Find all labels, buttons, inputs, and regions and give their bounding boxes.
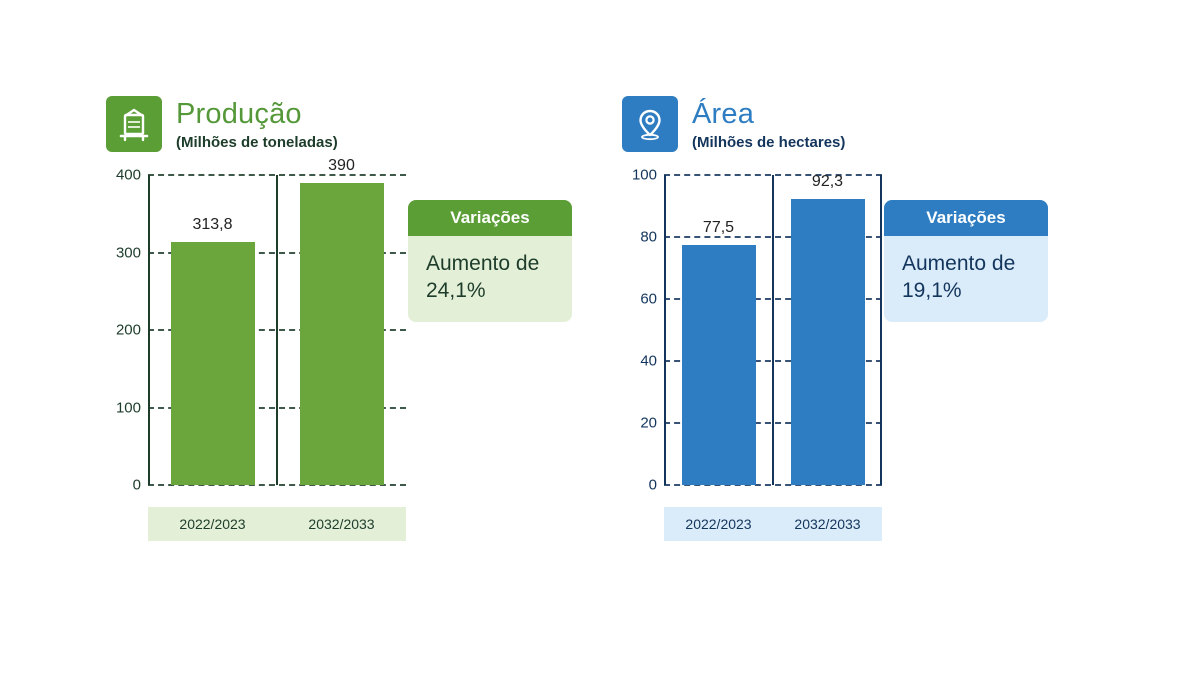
axis-right-line — [880, 175, 882, 485]
variation-card-text-producao: Aumento de 24,1% — [408, 236, 572, 322]
axis-divider-line — [276, 175, 278, 485]
variation-card-area: Variações Aumento de 19,1% — [884, 200, 1048, 322]
category-strip-area: 2022/20232032/2033 — [664, 507, 882, 541]
silo-icon — [106, 96, 162, 152]
category-label: 2032/2033 — [277, 516, 406, 532]
bar-2022-2023 — [171, 242, 255, 485]
axis-divider-line — [772, 175, 774, 485]
y-axis-tick-label: 200 — [116, 322, 141, 339]
chart-area-panel: 02040608010077,592,3 2022/20232032/2033 — [622, 175, 882, 485]
category-label: 2022/2023 — [148, 516, 277, 532]
bar-value-label: 92,3 — [812, 173, 843, 191]
panel-area: Área (Milhões de hectares) 0204060801007… — [622, 96, 882, 485]
chart-plot-area-area: 02040608010077,592,3 — [664, 175, 882, 485]
panel-producao: Produção (Milhões de toneladas) 01002003… — [106, 96, 406, 485]
y-axis-tick-label: 80 — [640, 229, 657, 246]
variation-card-header-area: Variações — [884, 200, 1048, 236]
panel-header-area: Área (Milhões de hectares) — [622, 96, 882, 153]
y-axis-tick-label: 100 — [116, 399, 141, 416]
y-axis-line — [148, 175, 150, 485]
bar-2032-2033 — [300, 183, 384, 485]
category-strip-producao: 2022/20232032/2033 — [148, 507, 406, 541]
variation-card-producao: Variações Aumento de 24,1% — [408, 200, 572, 322]
page-title-producao: Produção — [176, 98, 338, 130]
chart-plot-area-producao: 0100200300400313,8390 — [148, 175, 406, 485]
y-axis-line — [664, 175, 666, 485]
y-axis-tick-label: 20 — [640, 415, 657, 432]
location-pin-icon — [622, 96, 678, 152]
bar-2022-2023 — [682, 245, 756, 485]
y-axis-tick-label: 400 — [116, 167, 141, 184]
bar-2032-2033 — [791, 199, 865, 485]
bar-value-label: 77,5 — [703, 219, 734, 237]
y-axis-tick-label: 0 — [133, 477, 141, 494]
panel-title-wrap-area: Área (Milhões de hectares) — [692, 96, 845, 153]
panel-subtitle-area: (Milhões de hectares) — [692, 133, 845, 153]
category-label: 2032/2033 — [773, 516, 882, 532]
variation-card-header-producao: Variações — [408, 200, 572, 236]
y-axis-tick-label: 100 — [632, 167, 657, 184]
y-axis-tick-label: 300 — [116, 244, 141, 261]
variation-card-text-area: Aumento de 19,1% — [884, 236, 1048, 322]
bar-value-label: 390 — [328, 157, 355, 175]
page-title-area: Área — [692, 98, 845, 130]
panel-title-wrap-producao: Produção (Milhões de toneladas) — [176, 96, 338, 153]
bar-value-label: 313,8 — [192, 216, 232, 234]
y-axis-tick-label: 60 — [640, 291, 657, 308]
panel-subtitle-producao: (Milhões de toneladas) — [176, 133, 338, 153]
category-label: 2022/2023 — [664, 516, 773, 532]
y-axis-tick-label: 0 — [649, 477, 657, 494]
y-axis-tick-label: 40 — [640, 353, 657, 370]
chart-producao: 0100200300400313,8390 2022/20232032/2033 — [106, 175, 406, 485]
panel-header-producao: Produção (Milhões de toneladas) — [106, 96, 406, 153]
